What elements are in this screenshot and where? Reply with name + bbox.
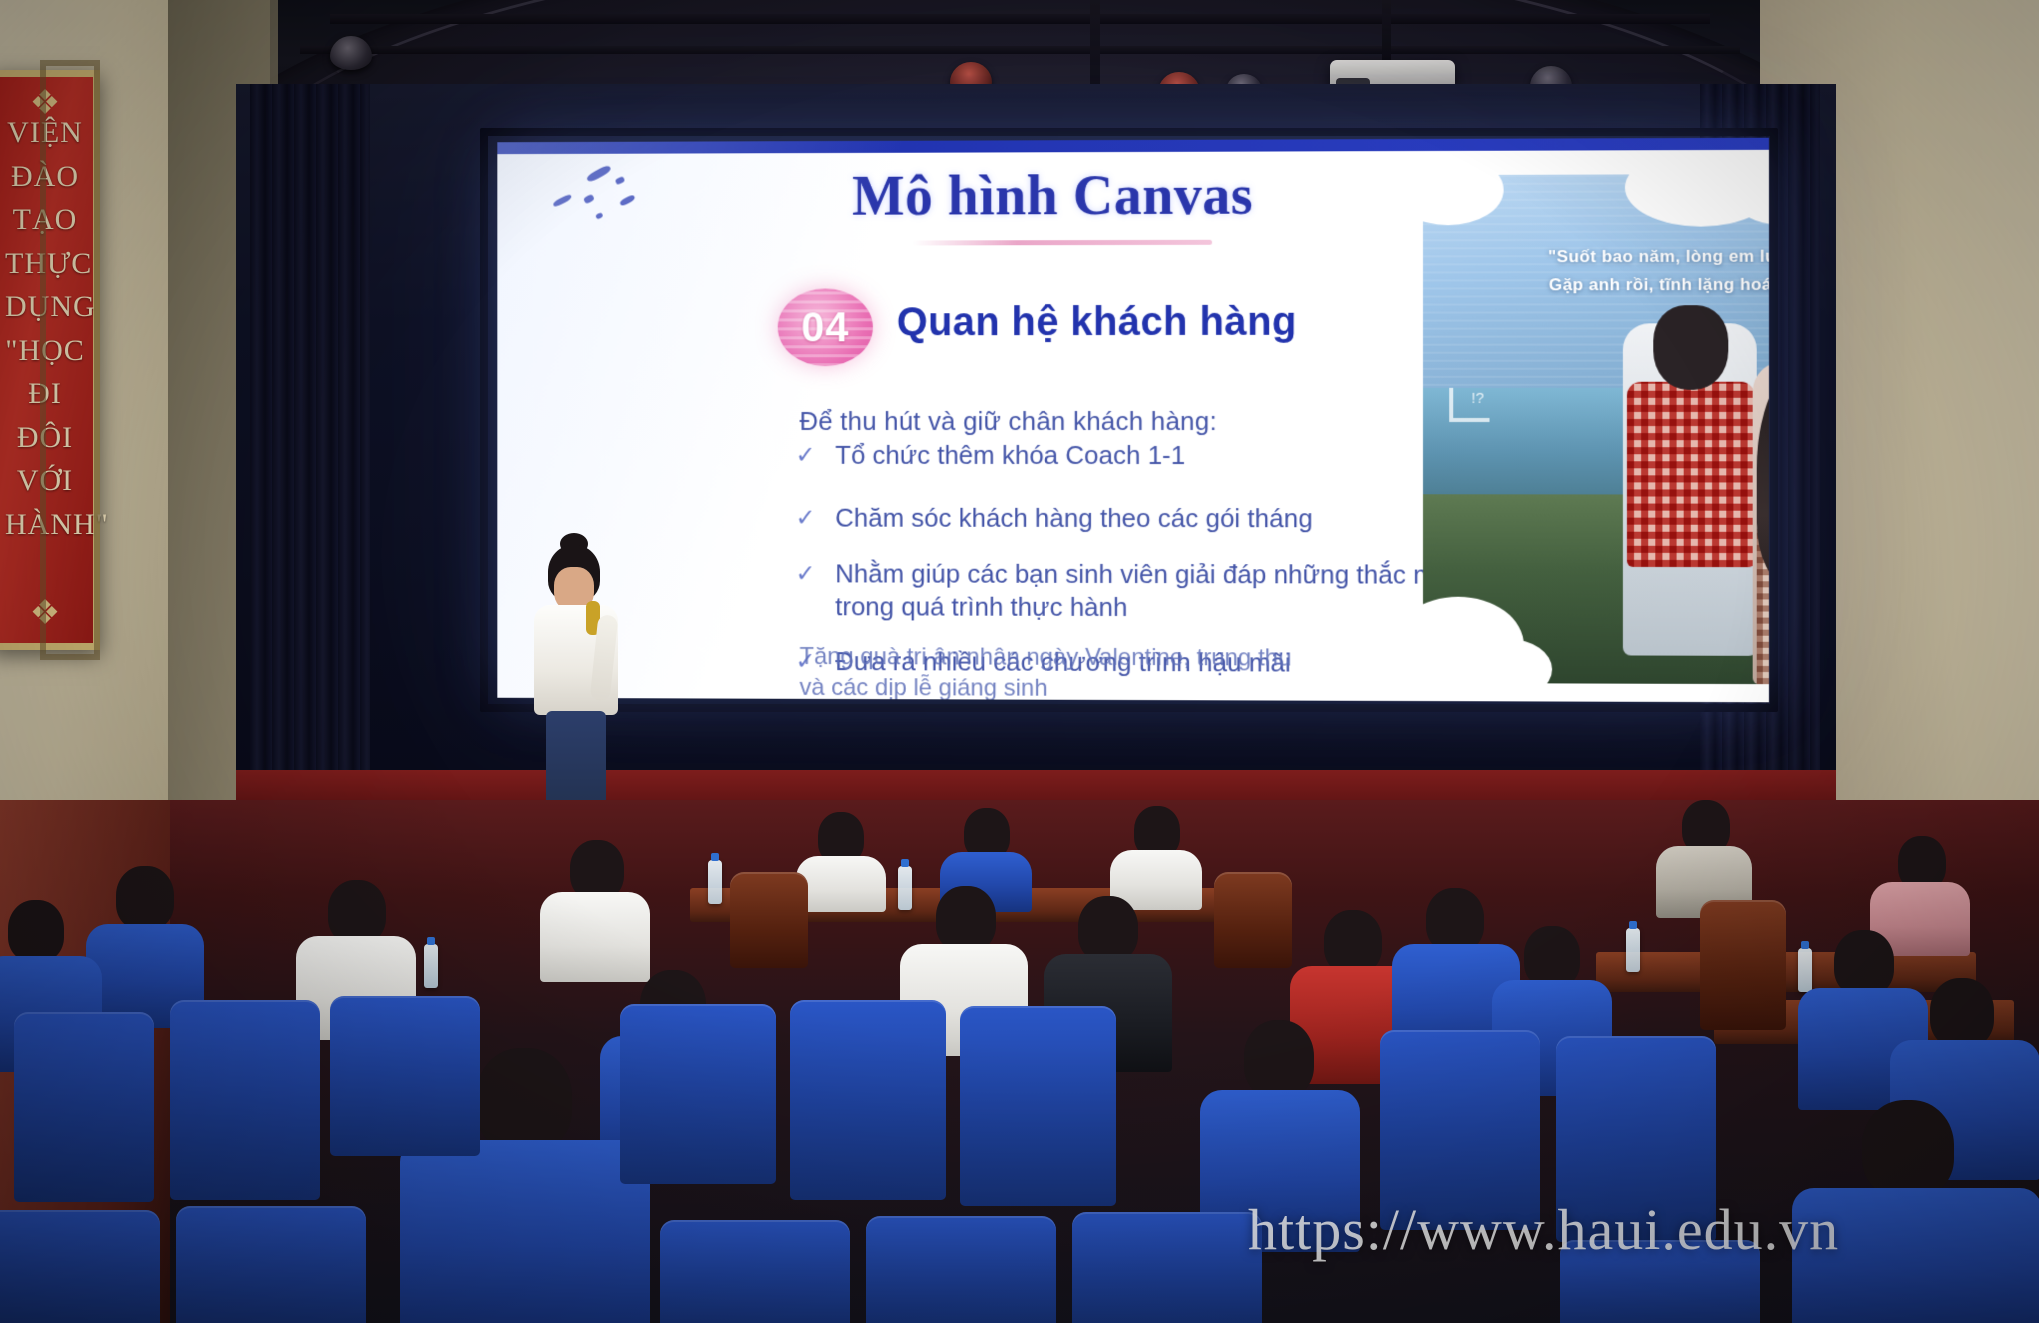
auditorium-seat[interactable] (14, 1012, 154, 1202)
slide-lead-text: Để thu hút và giữ chân khách hàng: (800, 406, 1480, 437)
bullet-text: Tổ chức thêm khóa Coach 1-1 (835, 440, 1185, 470)
auditorium-seat[interactable] (170, 1000, 320, 1200)
slide-tail-text: Tặng quà tri ân nhân ngày Valentine, tru… (800, 641, 1319, 702)
decorative-dashes-icon (541, 164, 649, 224)
photo-corner-mark: !? (1471, 390, 1484, 407)
photo-blob (1423, 173, 1504, 225)
photo-man-head (1653, 305, 1728, 390)
auditorium-seat[interactable] (960, 1006, 1116, 1206)
photo-quote-line-1: "Suốt bao năm, lòng em luôn yên tĩnh (1463, 242, 1769, 271)
audience-person (540, 840, 650, 980)
section-number: 04 (801, 303, 849, 351)
ceiling-beam (300, 46, 1740, 54)
check-icon: ✓ (796, 441, 816, 472)
presenter (520, 545, 630, 815)
audience-person (796, 812, 886, 908)
photo-quote: "Suốt bao năm, lòng em luôn yên tĩnh Gặp… (1463, 242, 1769, 299)
watermark-url: https://www.haui.edu.vn (1248, 1196, 1839, 1263)
title-underline (913, 240, 1212, 246)
slide-photo: "Suốt bao năm, lòng em luôn yên tĩnh Gặp… (1423, 173, 1769, 685)
slide-content: Mô hình Canvas 04 Quan hệ khách hàng Để … (497, 138, 1769, 703)
slide-subtitle: Quan hệ khách hàng (897, 300, 1297, 345)
projector-strut (1382, 0, 1391, 66)
water-bottle (424, 944, 438, 988)
photo-quote-line-2: Gặp anh rồi, tĩnh lặng hoá phong ba." (1463, 270, 1769, 299)
auditorium-seat[interactable] (0, 1210, 160, 1323)
water-bottle (708, 860, 722, 904)
auditorium-seat[interactable] (176, 1206, 366, 1323)
auditorium-seat[interactable] (660, 1220, 850, 1323)
auditorium-seat[interactable] (866, 1216, 1056, 1323)
slide-title: Mô hình Canvas (744, 163, 1363, 229)
bullet-item: ✓ Chăm sóc khách hàng theo các gói tháng (780, 502, 1480, 536)
bullet-item: ✓ Tổ chức thêm khóa Coach 1-1 (780, 439, 1480, 473)
auditorium-seat[interactable] (790, 1000, 946, 1200)
ceiling-beam (330, 14, 1710, 24)
bullet-text: Nhằm giúp các bạn sinh viên giải đáp nhữ… (835, 558, 1462, 622)
audience-person (1110, 806, 1202, 906)
bullet-text: Chăm sóc khách hàng theo các gói tháng (835, 503, 1313, 534)
water-bottle (1626, 928, 1640, 972)
wooden-chair (1214, 872, 1292, 968)
auditorium-seat[interactable] (330, 996, 480, 1156)
wall-frame (40, 60, 100, 660)
projection-screen: Mô hình Canvas 04 Quan hệ khách hàng Để … (497, 138, 1769, 703)
auditorium-seat[interactable] (1072, 1212, 1262, 1323)
bullet-item: ✓ Nhằm giúp các bạn sinh viên giải đáp n… (780, 557, 1480, 625)
auditorium-seat[interactable] (620, 1004, 776, 1184)
check-icon: ✓ (796, 559, 816, 590)
ceiling-spotlight (330, 36, 372, 70)
section-number-badge: 04 (778, 288, 873, 366)
photo-scene: ❖ VIỆN ĐÀO TẠO THỰC DỤNG "HỌC ĐI ĐÔI VỚI… (0, 0, 2039, 1323)
check-icon: ✓ (796, 504, 816, 535)
photo-man-shirt (1627, 382, 1755, 567)
wooden-chair (730, 872, 808, 968)
stage-curtain-left (250, 84, 370, 784)
wooden-chair (1700, 900, 1786, 1030)
photo-corner-bracket-icon: !? (1449, 388, 1489, 422)
